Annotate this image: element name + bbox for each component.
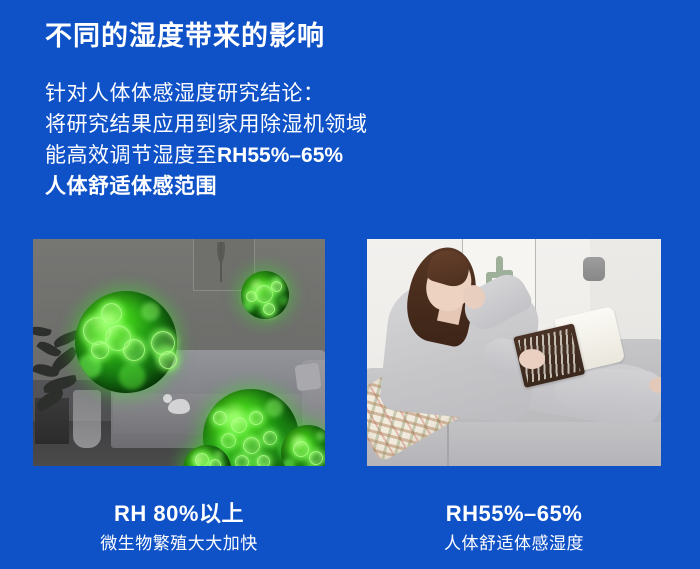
germ-sphere-floor [183,445,231,466]
germ-bubble [235,455,249,466]
germ-sphere-small [241,271,289,319]
caption-left-title: RH 80%以上 [33,500,325,528]
photo-comfort-humidity [367,239,661,466]
germ-bubble [271,281,282,292]
germ-bubble [159,351,177,369]
page-title: 不同的湿度带来的影响 [45,18,325,54]
germ-bubble [243,437,260,454]
germ-bubble [293,441,309,457]
sofa-seam [447,424,449,466]
description-line-3: 能高效调节湿度至RH55%–65% [45,140,368,171]
germ-bubble [101,303,122,324]
humidity-range-highlight: RH55%–65% [217,144,343,167]
bird-ornament-icon [168,399,190,414]
sofa-cushion [295,363,322,392]
wall-speaker-icon [583,257,605,281]
bright-room-scene [367,239,661,466]
germ-bubble [263,303,275,315]
germ-bubble [213,411,227,425]
germ-sphere-edge [281,425,325,466]
germ-bubble [209,459,221,466]
germ-bubble [249,411,263,425]
description-line-1: 针对人体体感湿度研究结论： [45,78,368,109]
germ-bubble [257,455,270,466]
caption-high-humidity: RH 80%以上 微生物繁殖大大加快 [33,500,325,557]
caption-right-title: RH55%–65% [367,500,661,528]
germ-bubble [123,339,145,361]
germ-bubble [263,431,277,445]
germ-bubble [309,451,323,465]
caption-comfort-humidity: RH55%–65% 人体舒适体感湿度 [367,500,661,557]
description-line-3-plain: 能高效调节湿度至 [45,144,217,167]
dark-room-scene [33,239,325,466]
photo-high-humidity [33,239,325,466]
germ-sphere-large [75,291,177,393]
germ-bubble [231,417,247,433]
germ-bubble [195,453,209,466]
floor-vase [73,390,101,448]
humidity-infographic-page: 不同的湿度带来的影响 针对人体体感湿度研究结论： 将研究结果应用到家用除湿机领域… [0,0,700,569]
caption-left-subtitle: 微生物繁殖大大加快 [33,531,325,557]
germ-bubble [91,341,109,359]
person-hand-holding-book [519,349,545,369]
germ-bubble [246,291,257,302]
description-line-2: 将研究结果应用到家用除湿机领域 [45,109,368,140]
description-block: 针对人体体感湿度研究结论： 将研究结果应用到家用除湿机领域 能高效调节湿度至RH… [45,78,368,202]
caption-right-subtitle: 人体舒适体感湿度 [367,531,661,557]
description-line-4: 人体舒适体感范围 [45,171,368,202]
